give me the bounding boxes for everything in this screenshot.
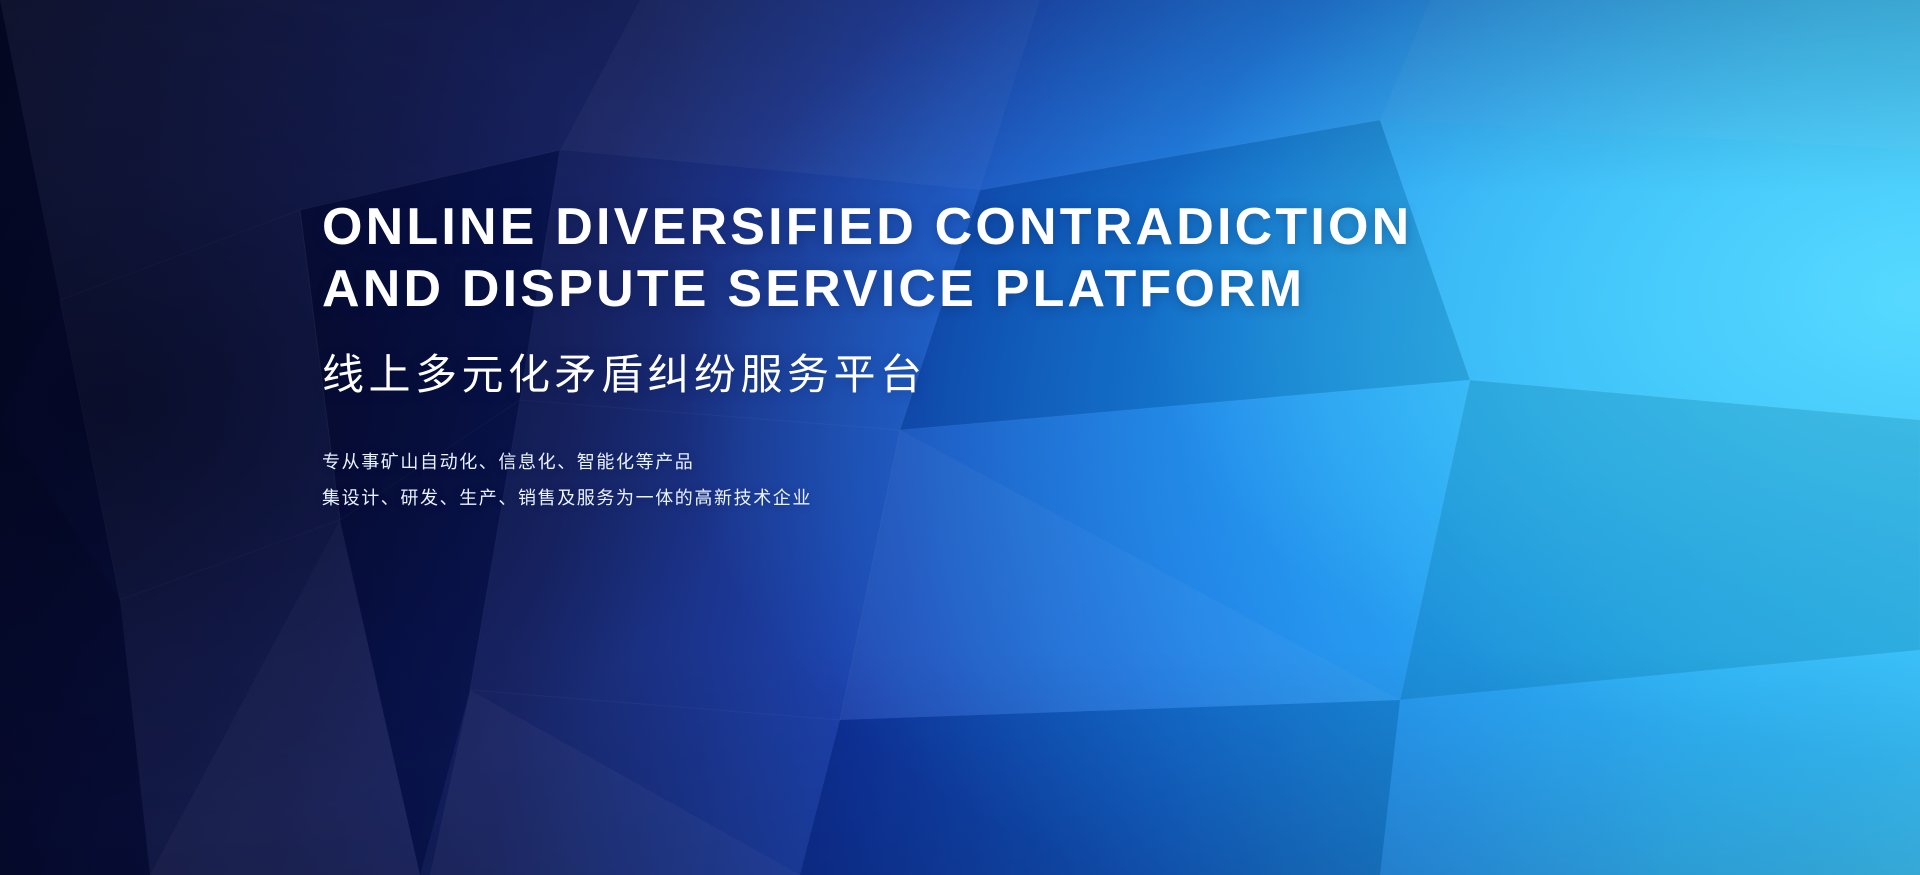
english-title-line-1: ONLINE DIVERSIFIED CONTRADICTION — [322, 196, 1472, 258]
banner-content: ONLINE DIVERSIFIED CONTRADICTION AND DIS… — [322, 196, 1472, 516]
english-title-line-2: AND DISPUTE SERVICE PLATFORM — [322, 258, 1472, 320]
description-line-1: 专从事矿山自动化、信息化、智能化等产品 — [322, 444, 1472, 480]
description: 专从事矿山自动化、信息化、智能化等产品 集设计、研发、生产、销售及服务为一体的高… — [322, 444, 1472, 516]
hero-banner: ONLINE DIVERSIFIED CONTRADICTION AND DIS… — [0, 0, 1920, 875]
chinese-title: 线上多元化矛盾纠纷服务平台 — [322, 350, 1472, 400]
english-title: ONLINE DIVERSIFIED CONTRADICTION AND DIS… — [322, 196, 1472, 320]
description-line-2: 集设计、研发、生产、销售及服务为一体的高新技术企业 — [322, 480, 1472, 516]
